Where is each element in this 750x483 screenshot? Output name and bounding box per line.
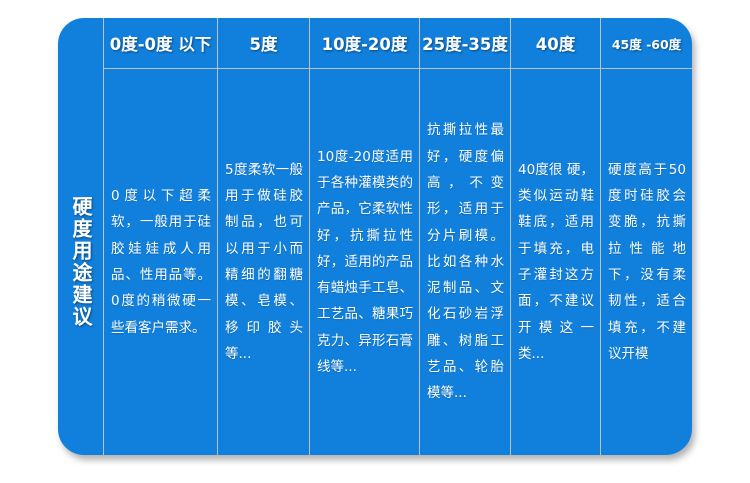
table-header-corner: [58, 18, 103, 68]
table-cell-5-degree: 5度柔软一般用于做硅胶制品，也可以用于小而精细的翻糖模、皂模、移印胶头等...: [217, 68, 309, 455]
table-cell-text: 5度柔软一般用于做硅胶制品，也可以用于小而精细的翻糖模、皂模、移印胶头等...: [218, 157, 309, 368]
table-cell-45-60-degree: 硬度高于50度时硅胶会变脆，抗撕拉性能地下，没有柔韧性，适合填充，不建议开模: [600, 68, 692, 455]
table-cell-text: 40度很 硬，类似运动鞋鞋底，适用于填充，电子灌封这方面，不建议开模这一类...: [511, 157, 600, 368]
row-label-hardness-usage: 硬度用途建议: [58, 68, 103, 455]
page-root: 0度-0度 以下 5度 10度-20度 25度-35度 40度 45度 -60度…: [0, 0, 750, 483]
table-header-25-35-degree: 25度-35度: [419, 18, 510, 68]
table-header-label: 25度-35度: [422, 31, 508, 55]
table-header-label: 45度 -60度: [612, 34, 681, 53]
table-cell-25-35-degree: 抗撕拉性最好，硬度偏高，不变形，适用于分片刷模。比如各种水泥制品、文化石砂岩浮雕…: [419, 68, 510, 455]
table-grid: 0度-0度 以下 5度 10度-20度 25度-35度 40度 45度 -60度…: [58, 18, 692, 455]
table-header-label: 0度-0度 以下: [110, 31, 212, 55]
table-header-0-degree: 0度-0度 以下: [103, 18, 217, 68]
table-header-5-degree: 5度: [217, 18, 309, 68]
row-label-text: 硬度用途建议: [66, 196, 95, 328]
table-cell-10-20-degree: 10度-20度适用于各种灌模类的 产品，它柔软性好，抗撕拉性好，适用的产品有蜡烛…: [309, 68, 419, 455]
table-cell-text: 硬度高于50度时硅胶会变脆，抗撕拉性能地下，没有柔韧性，适合填充，不建议开模: [601, 157, 692, 368]
table-header-label: 40度: [536, 31, 575, 55]
table-cell-text: 抗撕拉性最好，硬度偏高，不变形，适用于分片刷模。比如各种水泥制品、文化石砂岩浮雕…: [420, 117, 510, 406]
table-header-label: 10度-20度: [322, 31, 408, 55]
table-cell-40-degree: 40度很 硬，类似运动鞋鞋底，适用于填充，电子灌封这方面，不建议开模这一类...: [510, 68, 600, 455]
table-header-40-degree: 40度: [510, 18, 600, 68]
table-header-10-20-degree: 10度-20度: [309, 18, 419, 68]
table-header-label: 5度: [250, 31, 278, 55]
table-header-45-60-degree: 45度 -60度: [600, 18, 692, 68]
table-cell-text: 0度以下超柔软，一般用于硅胶娃娃成人用品、性用品等。0度的稍微硬一些看客户需求。: [104, 183, 217, 341]
hardness-usage-table: 0度-0度 以下 5度 10度-20度 25度-35度 40度 45度 -60度…: [58, 18, 692, 455]
table-cell-0-degree: 0度以下超柔软，一般用于硅胶娃娃成人用品、性用品等。0度的稍微硬一些看客户需求。: [103, 68, 217, 455]
table-cell-text: 10度-20度适用于各种灌模类的 产品，它柔软性好，抗撕拉性好，适用的产品有蜡烛…: [310, 144, 419, 381]
